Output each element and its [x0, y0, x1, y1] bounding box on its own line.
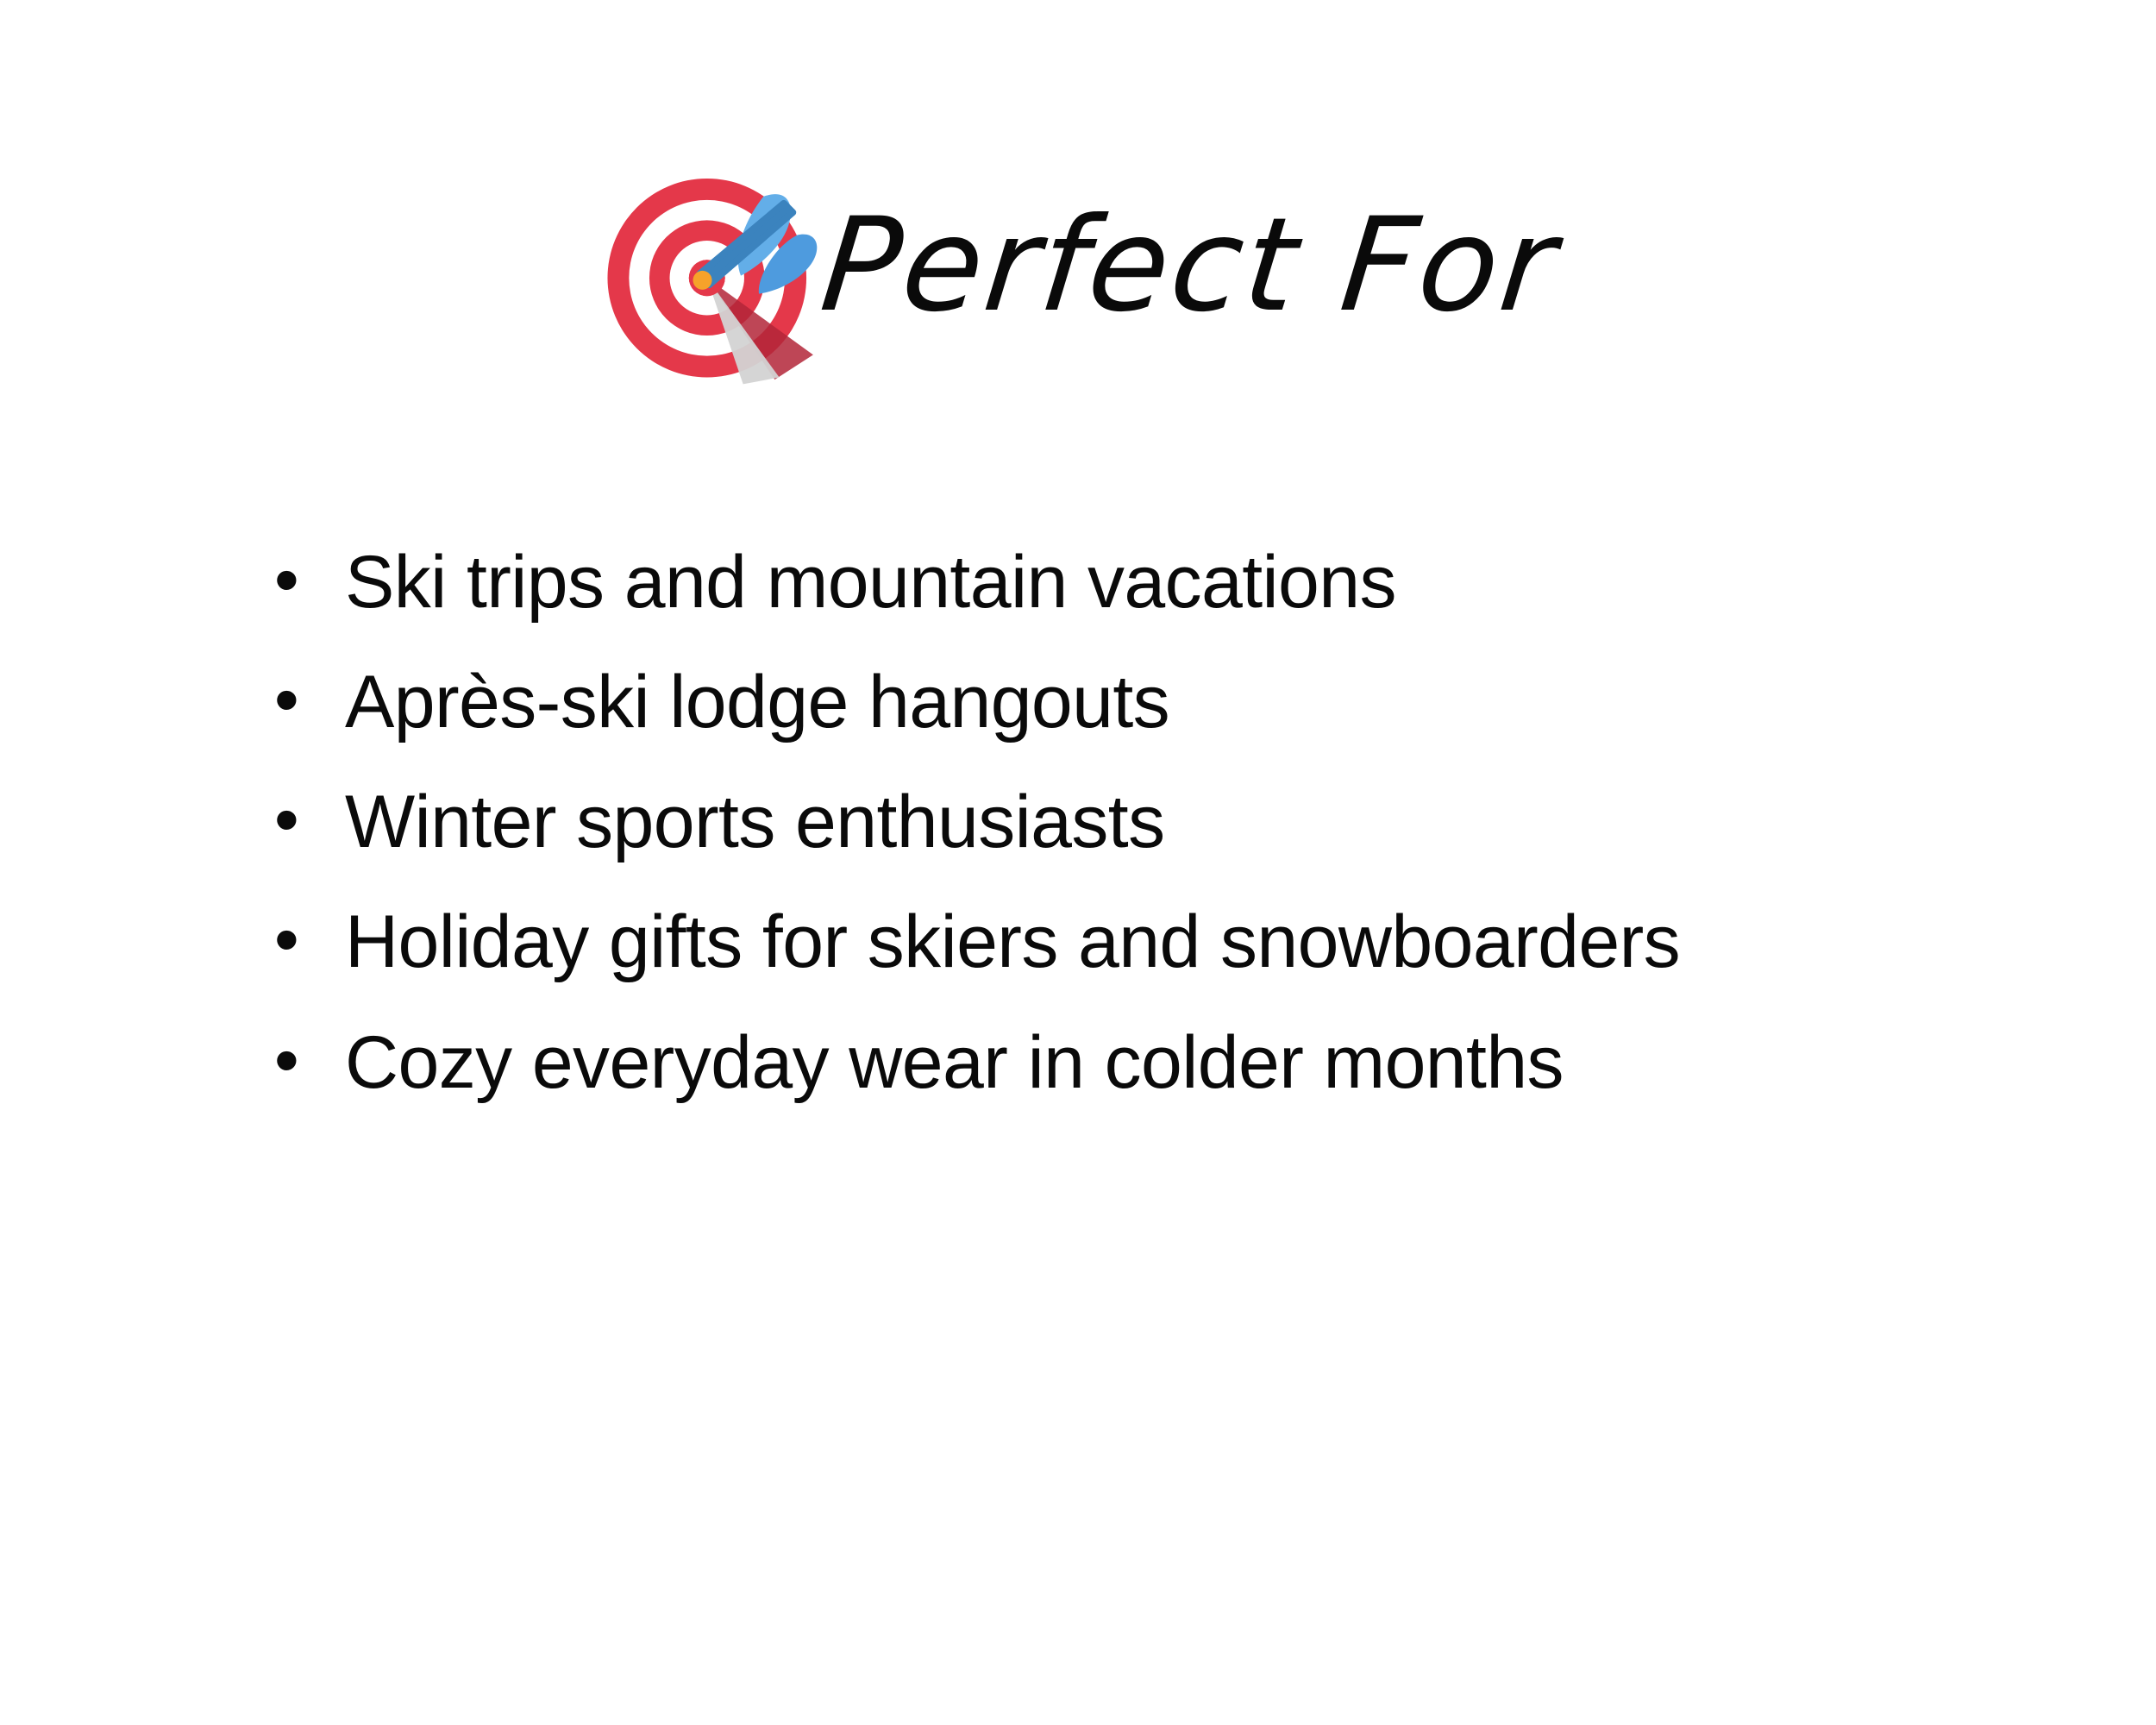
bullet-dot-icon: • — [274, 905, 297, 975]
list-item: • Holiday gifts for skiers and snowboard… — [274, 903, 2103, 982]
bullet-dot-icon: • — [274, 545, 297, 616]
list-item-label: Holiday gifts for skiers and snowboarder… — [345, 903, 2103, 982]
bullet-dot-icon: • — [274, 665, 297, 736]
list-item: • Cozy everyday wear in colder months — [274, 1024, 2103, 1102]
bullet-dot-icon: • — [274, 1026, 297, 1096]
bullet-dot-icon: • — [274, 785, 297, 856]
dart-target-emoji — [599, 160, 824, 386]
list-item: • Ski trips and mountain vacations — [274, 543, 2103, 622]
page-title: Perfect For — [813, 201, 1564, 330]
perfect-for-list: • Ski trips and mountain vacations • Apr… — [274, 543, 2103, 1144]
list-item-label: Cozy everyday wear in colder months — [345, 1024, 2103, 1102]
list-item: • Après-ski lodge hangouts — [274, 663, 2103, 742]
list-item-label: Ski trips and mountain vacations — [345, 543, 2103, 622]
list-item-label: Après-ski lodge hangouts — [345, 663, 2103, 742]
page-title-row: Perfect For — [0, 145, 2156, 386]
list-item: • Winter sports enthusiasts — [274, 783, 2103, 862]
slide-canvas: Perfect For • Ski trips and mountain vac… — [0, 0, 2156, 1725]
list-item-label: Winter sports enthusiasts — [345, 783, 2103, 862]
